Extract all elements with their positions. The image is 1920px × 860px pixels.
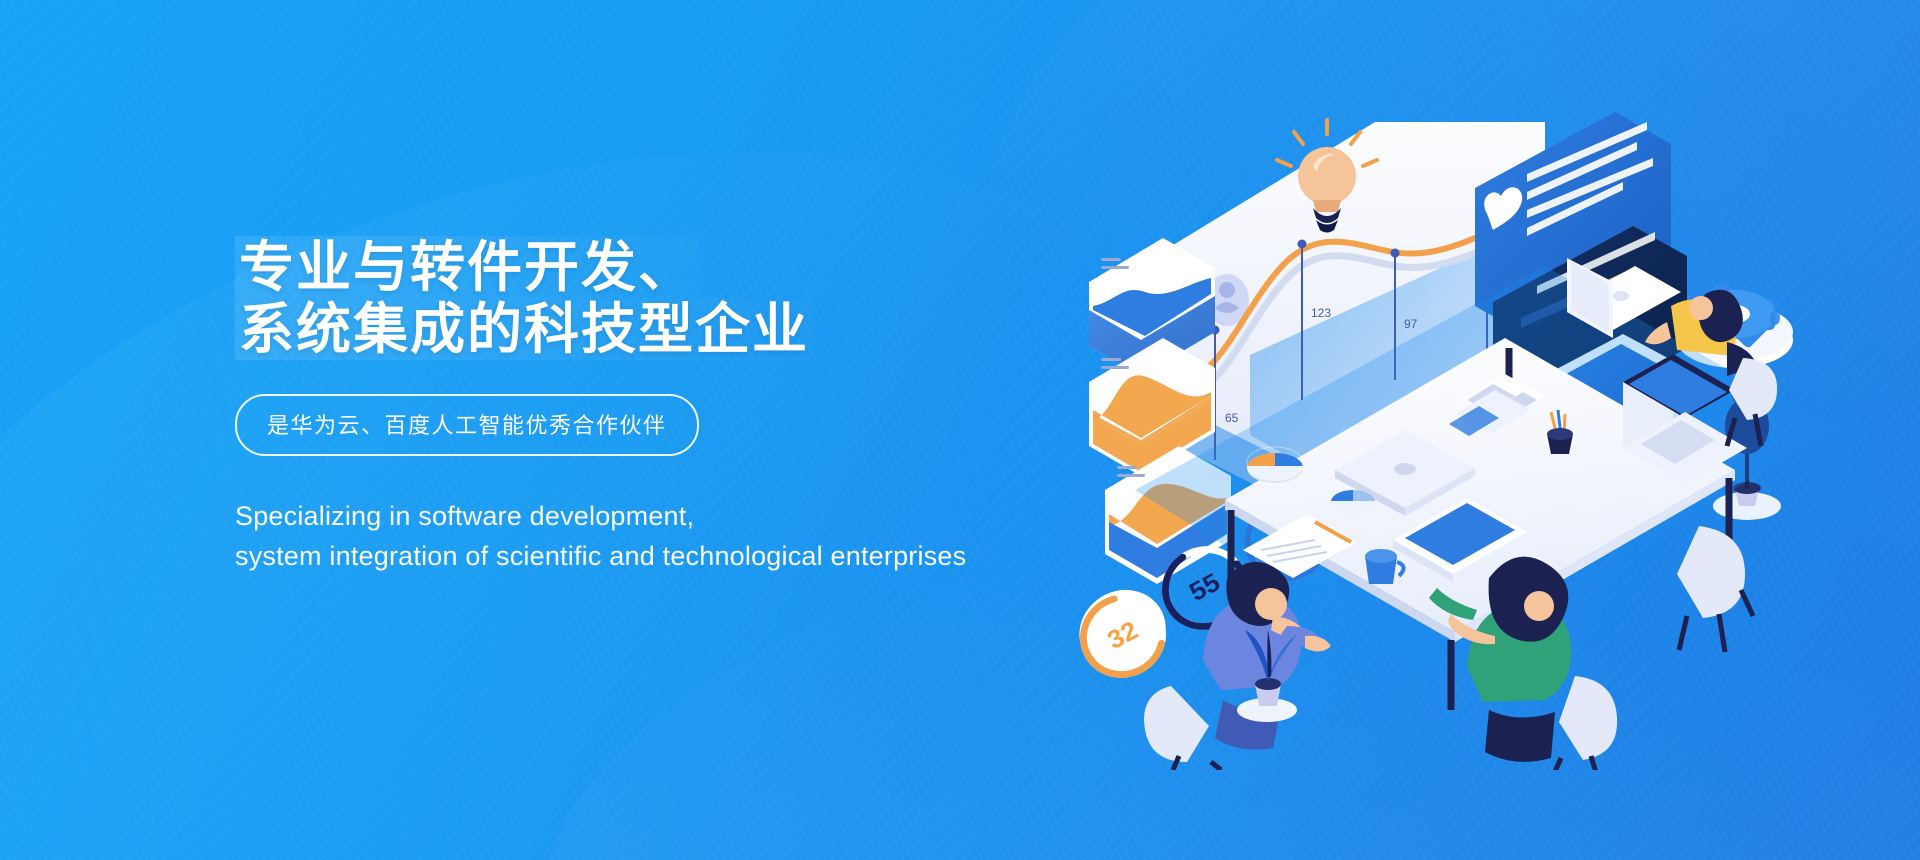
partner-badge-label: 是华为云、百度人工智能优秀合作伙伴 (267, 413, 667, 438)
empty-chair (1677, 526, 1753, 652)
hero-copy: 专业与转件开发、 系统集成的科技型企业 是华为云、百度人工智能优秀合作伙伴 Sp… (235, 236, 1135, 576)
partner-badge[interactable]: 是华为云、百度人工智能优秀合作伙伴 (235, 394, 699, 456)
headline-line-1: 专业与转件开发、 (235, 236, 699, 298)
pie-chart-prop-small (1331, 490, 1375, 514)
gauge-value-55: 55 (1184, 567, 1224, 607)
page-title: 专业与转件开发、 系统集成的科技型企业 (235, 236, 1135, 360)
subtitle-line-2-suffix: scientific and technological enterprises (496, 541, 966, 571)
hero-banner: 专业与转件开发、 系统集成的科技型企业 是华为云、百度人工智能优秀合作伙伴 Sp… (0, 0, 1920, 860)
subtitle-line-1: Specializing in software development, (235, 496, 1135, 536)
hero-subtitle: Specializing in software development, sy… (235, 496, 1135, 576)
chart-label-2: 97 (1404, 317, 1418, 331)
gauge-32: 32 (1075, 562, 1198, 709)
subtitle-line-2-prefix: system integration of (235, 541, 496, 571)
headline-line-2: 系统集成的科技型企业 (235, 298, 813, 360)
chart-label-1: 123 (1311, 306, 1331, 320)
illustration: 65 123 97 81 (1075, 70, 1885, 770)
chart-label-0: 65 (1225, 411, 1239, 425)
